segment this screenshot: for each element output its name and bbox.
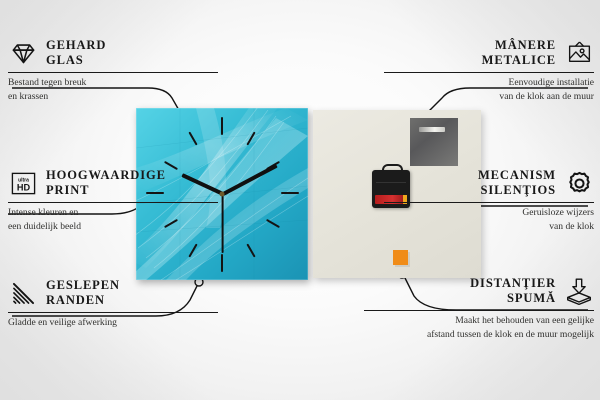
feature-title: GESLEPEN RANDEN: [46, 278, 120, 308]
foam-spacer-icon: [564, 276, 594, 306]
feature-gehard-glas: GEHARD GLAS Bestand tegen breuk en krass…: [8, 38, 218, 104]
feature-title-line1: MECANISM: [478, 168, 556, 182]
feature-title-line2: RANDEN: [46, 293, 105, 307]
feature-desc-line2: afstand tussen de klok en de muur mogeli…: [427, 329, 594, 340]
picture-frame-icon: [564, 38, 594, 68]
feature-title-line2: GLAS: [46, 53, 84, 67]
feature-title: GEHARD GLAS: [46, 38, 106, 68]
feature-desc-line2: van de klok aan de muur: [499, 91, 594, 102]
feature-divider: [384, 72, 594, 73]
feature-title-line1: HOOGWAARDIGE: [46, 168, 166, 182]
feature-header: GESLEPEN RANDEN: [8, 278, 218, 308]
feature-desc-line2: een duidelijk beeld: [8, 221, 81, 232]
infographic-canvas: GEHARD GLAS Bestand tegen breuk en krass…: [0, 0, 600, 400]
feature-desc-line1: Bestand tegen breuk: [8, 77, 86, 88]
feature-title-line2: PRINT: [46, 183, 89, 197]
feature-title: HOOGWAARDIGE PRINT: [46, 168, 166, 198]
clock-tick-3: [281, 192, 299, 194]
feature-header: ultra HD HOOGWAARDIGE PRINT: [8, 168, 218, 198]
feature-desc-line1: Gladde en veilige afwerking: [8, 317, 117, 328]
feature-header: GEHARD GLAS: [8, 38, 218, 68]
feature-title: MECANISM SILENŢIOS: [478, 168, 556, 198]
metal-hanger-plate: [410, 118, 458, 166]
feature-header: MECANISM SILENŢIOS: [384, 168, 594, 198]
feature-title-line1: MÂNERE: [495, 38, 556, 52]
gear-icon: [564, 168, 594, 198]
feature-desc-line1: Intense kleuren en: [8, 207, 78, 218]
feature-mecanism-silentios: MECANISM SILENŢIOS Geruisloze wijzers va…: [384, 168, 594, 234]
feature-hoogwaardige-print: ultra HD HOOGWAARDIGE PRINT Intense kleu…: [8, 168, 218, 234]
feature-desc-line1: Geruisloze wijzers: [522, 207, 594, 218]
feature-description: Gladde en veilige afwerking: [8, 316, 218, 330]
feature-title-line2: SPUMĂ: [507, 291, 556, 305]
feature-description: Intense kleuren en een duidelijk beeld: [8, 206, 218, 234]
feature-title: DISTANŢIER SPUMĂ: [470, 276, 556, 306]
ultra-hd-icon: ultra HD: [8, 168, 38, 198]
feature-desc-line2: en krassen: [8, 91, 48, 102]
feature-geslepen-randen: GESLEPEN RANDEN Gladde en veilige afwerk…: [8, 278, 218, 330]
feature-description: Geruisloze wijzers van de klok: [384, 206, 594, 234]
feature-manere-metalice: MÂNERE METALICE Eenvoudige installatie v…: [384, 38, 594, 104]
feature-header: DISTANŢIER SPUMĂ: [364, 276, 594, 306]
feature-title-line1: GEHARD: [46, 38, 106, 52]
feature-divider: [8, 202, 218, 203]
feature-title-line2: SILENŢIOS: [481, 183, 557, 197]
feature-divider: [384, 202, 594, 203]
feature-description: Eenvoudige installatie van de klok aan d…: [384, 76, 594, 104]
feature-distantier-spuma: DISTANŢIER SPUMĂ Maakt het behouden van …: [364, 276, 594, 342]
orange-foam-spacer: [393, 250, 408, 265]
feature-divider: [8, 312, 218, 313]
feature-desc-line2: van de klok: [549, 221, 594, 232]
feature-description: Bestand tegen breuk en krassen: [8, 76, 218, 104]
feature-description: Maakt het behouden van een gelijke afsta…: [364, 314, 594, 342]
feature-title-line2: METALICE: [482, 53, 556, 67]
feature-divider: [364, 310, 594, 311]
feature-header: MÂNERE METALICE: [384, 38, 594, 68]
feature-title: MÂNERE METALICE: [482, 38, 556, 68]
svg-text:HD: HD: [16, 182, 30, 192]
hanger-slot: [419, 127, 445, 132]
clock-hand-hub: [220, 192, 225, 197]
feature-desc-line1: Eenvoudige installatie: [508, 77, 594, 88]
clock-tick-12: [221, 117, 223, 135]
feature-title-line1: GESLEPEN: [46, 278, 120, 292]
diamond-icon: [8, 38, 38, 68]
feature-desc-line1: Maakt het behouden van een gelijke: [455, 315, 594, 326]
feature-title-line1: DISTANŢIER: [470, 276, 556, 290]
beveled-edge-icon: [8, 278, 38, 308]
clock-second-hand: [222, 194, 224, 253]
clock-tick-6: [221, 254, 223, 272]
feature-divider: [8, 72, 218, 73]
